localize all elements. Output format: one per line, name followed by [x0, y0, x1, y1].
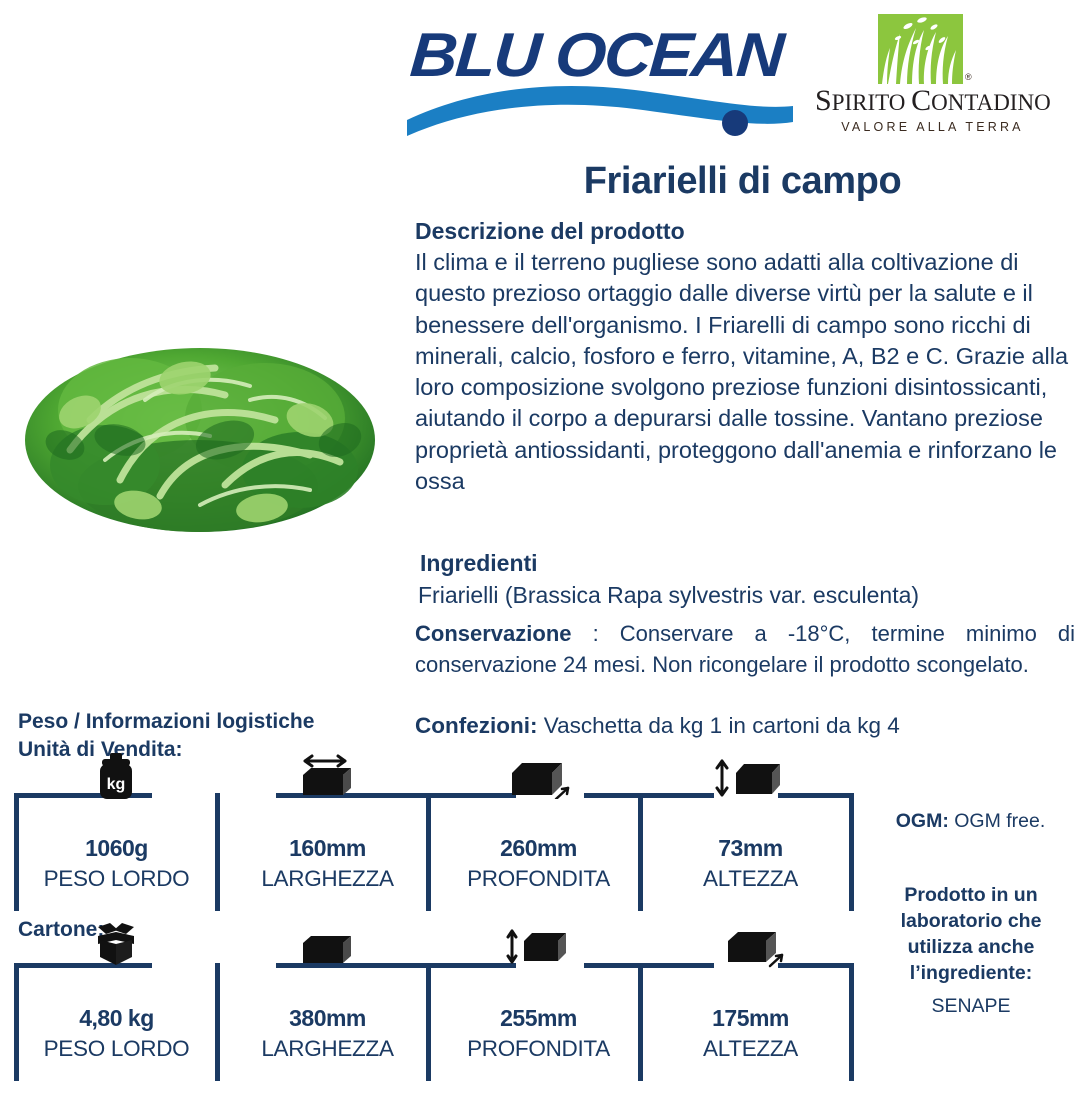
lab-allergen-note: Prodotto in un laboratorio che utilizza … — [876, 883, 1066, 987]
bluocean-dot-icon — [722, 110, 748, 136]
allergen-name: SENAPE — [876, 995, 1066, 1018]
packaging-body: Vaschetta da kg 1 in cartoni da kg 4 — [537, 713, 899, 738]
logistics-row-cartone: 4,80 kg PESO LORDO 380mm LARGHEZZA — [14, 963, 854, 1118]
logistics-heading-line1: Peso / Informazioni logistiche — [18, 708, 314, 736]
packaging-label: Confezioni: — [415, 713, 537, 738]
box-width-icon — [225, 923, 430, 969]
box-height-icon — [648, 753, 853, 799]
box-height-icon — [648, 923, 853, 969]
svg-text:kg: kg — [107, 776, 126, 793]
wordmark-pirito: PIRITO — [832, 90, 911, 115]
wordmark-c: C — [911, 84, 931, 117]
page-title: Friarielli di campo — [415, 160, 1070, 203]
logistics-label: PROFONDITA — [436, 1036, 641, 1062]
description-heading: Descrizione del prodotto — [415, 216, 1075, 247]
logistics-value: 255mm — [436, 1005, 641, 1032]
description-block: Descrizione del prodotto Il clima e il t… — [415, 216, 1075, 497]
box-depth-icon — [436, 923, 641, 969]
spirito-contadino-tagline: VALORE ALLA TERRA — [815, 120, 1050, 134]
registered-mark-icon: ® — [965, 72, 972, 82]
logistics-value: 160mm — [225, 835, 430, 862]
box-width-icon — [225, 753, 430, 799]
conservation-separator: : — [572, 621, 620, 646]
conservation-paragraph: Conservazione : Conservare a -18°C, term… — [415, 618, 1075, 680]
logistics-label: ALTEZZA — [648, 1036, 853, 1062]
bluocean-logo: BLU OCEAN — [405, 18, 795, 136]
logistics-value: 260mm — [436, 835, 641, 862]
wordmark-ontadino: ONTADINO — [931, 90, 1051, 115]
ingredients-body: Friarielli (Brassica Rapa sylvestris var… — [418, 582, 919, 609]
spirito-contadino-wordmark: SPIRITO CONTADINO — [815, 84, 1050, 118]
description-body: Il clima e il terreno pugliese sono adat… — [415, 247, 1075, 497]
conservation-label: Conservazione — [415, 621, 572, 646]
logistics-label: LARGHEZZA — [225, 866, 430, 892]
logistics-value: 73mm — [648, 835, 853, 862]
logistics-value: 1060g — [14, 835, 219, 862]
logistics-label: PESO LORDO — [14, 866, 219, 892]
logistics-label: ALTEZZA — [648, 866, 853, 892]
ingredients-heading: Ingredienti — [420, 550, 538, 577]
box-depth-icon — [436, 753, 641, 799]
header-logos: BLU OCEAN — [0, 0, 1080, 150]
open-box-icon — [14, 923, 219, 969]
grass-square-icon — [878, 14, 963, 84]
packaging-line: Confezioni: Vaschetta da kg 1 in cartoni… — [415, 713, 1075, 739]
logistics-value: 4,80 kg — [14, 1005, 219, 1032]
logistics-label: PROFONDITA — [436, 866, 641, 892]
product-photo — [10, 300, 390, 555]
logistics-value: 380mm — [225, 1005, 430, 1032]
ogm-label: OGM: — [896, 810, 949, 832]
weight-kg-icon: kg — [14, 753, 219, 799]
logistics-value: 175mm — [648, 1005, 853, 1032]
wordmark-s: S — [815, 84, 832, 117]
logistics-label: LARGHEZZA — [225, 1036, 430, 1062]
ogm-line: OGM: OGM free. — [868, 810, 1073, 833]
ogm-value: OGM free. — [949, 810, 1045, 832]
logistics-label: PESO LORDO — [14, 1036, 219, 1062]
spirito-contadino-logo: ® SPIRITO CONTADINO VALORE ALLA TERRA — [815, 14, 1050, 136]
